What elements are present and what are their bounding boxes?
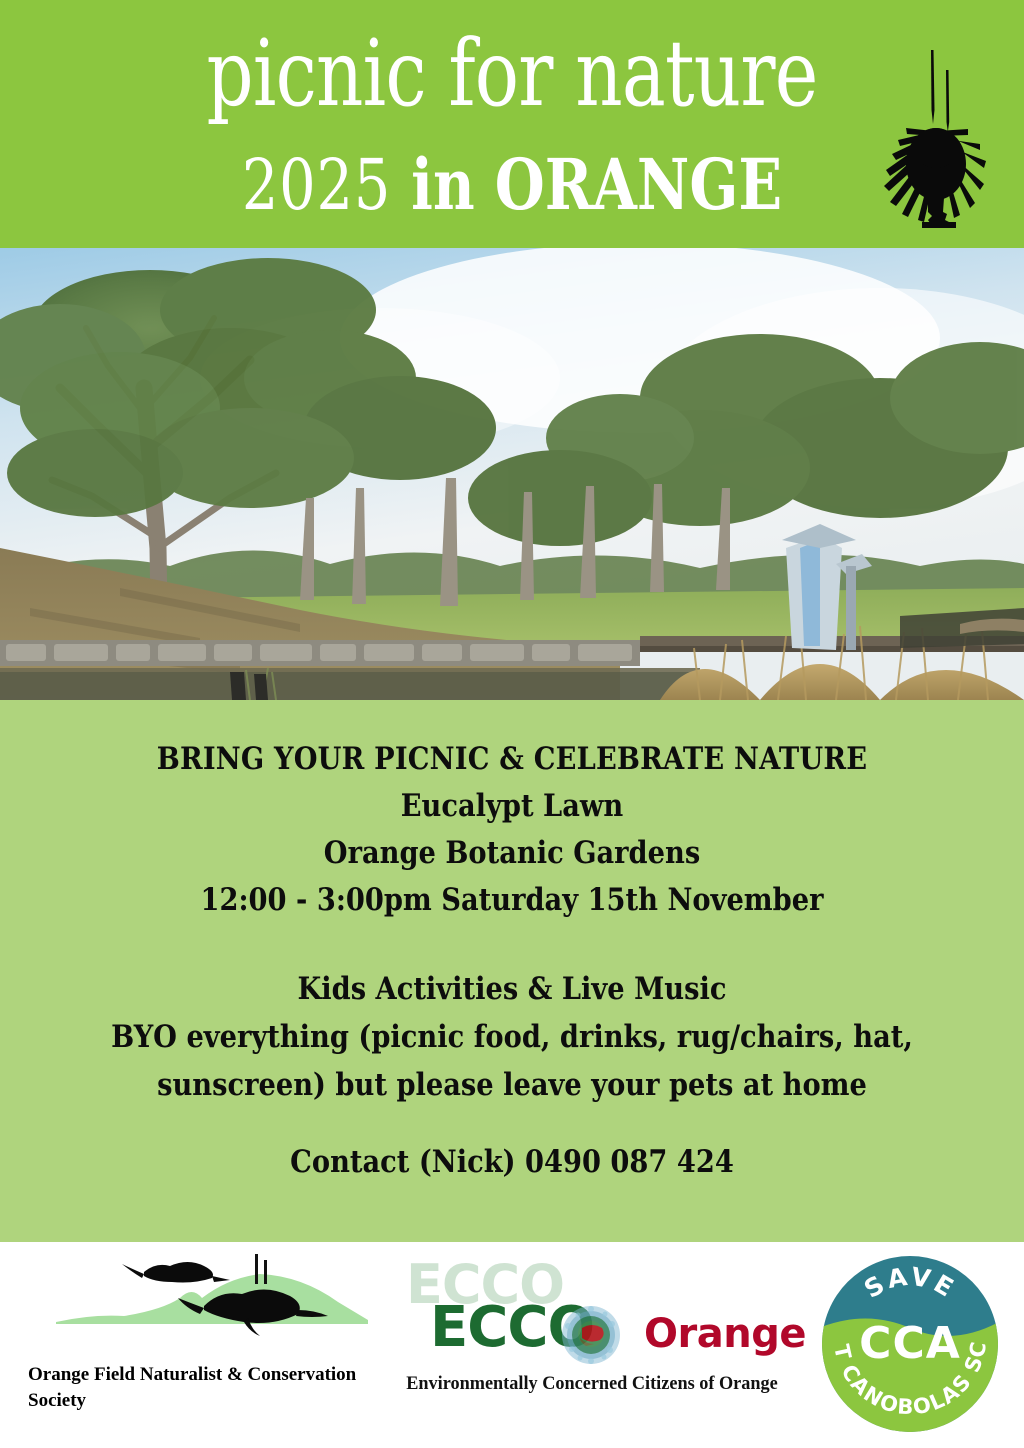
poster-body: BRING YOUR PICNIC & CELEBRATE NATURE Euc…	[0, 700, 1024, 1242]
hero-photo	[0, 248, 1024, 700]
page-title: picnic for nature	[102, 28, 921, 120]
ecco-tagline: Environmentally Concerned Citizens of Or…	[400, 1372, 784, 1396]
logo-ecco: ECCO ECCO	[392, 1256, 792, 1432]
contact-line: Contact (Nick) 0490 087 424	[61, 1140, 962, 1184]
event-contact-block: Contact (Nick) 0490 087 424	[0, 1140, 1024, 1184]
event-venue: Orange Botanic Gardens	[61, 830, 962, 877]
logo-ofncs-label: Orange Field Naturalist & Conservation S…	[28, 1362, 388, 1414]
page-subtitle: 2025 in ORANGE	[92, 150, 932, 220]
ecco-orange-wordmark: Orange	[644, 1314, 806, 1354]
cca-center-text: CCA	[859, 1318, 961, 1369]
event-activities-block: Kids Activities & Live Music BYO everyth…	[0, 965, 1024, 1109]
subtitle-location: in ORANGE	[391, 143, 782, 226]
logo-ofncs: Orange Field Naturalist & Conservation S…	[12, 1250, 392, 1440]
cca-badge-icon: SAVE CCA MT CANOBOLAS SCA	[818, 1252, 1002, 1436]
byo-line: BYO everything (picnic food, drinks, rug…	[61, 1013, 962, 1109]
poster-header: picnic for nature 2025 in ORANGE	[0, 0, 1024, 248]
event-venue-lawn: Eucalypt Lawn	[61, 783, 962, 830]
hero-photo-illustration	[0, 248, 1024, 700]
activities-line: Kids Activities & Live Music	[61, 965, 962, 1013]
fuzzy-globe-icon	[560, 1304, 622, 1366]
hill-with-birds-icon	[52, 1252, 372, 1352]
subtitle-year: 2025	[242, 144, 391, 226]
logo-cca: SAVE CCA MT CANOBOLAS SCA	[818, 1252, 1002, 1436]
poster-footer: Orange Field Naturalist & Conservation S…	[0, 1242, 1024, 1448]
event-headline: BRING YOUR PICNIC & CELEBRATE NATURE	[61, 736, 962, 783]
event-datetime: 12:00 - 3:00pm Saturday 15th November	[61, 877, 962, 924]
event-details-block: BRING YOUR PICNIC & CELEBRATE NATURE Euc…	[0, 736, 1024, 924]
poster-root: picnic for nature 2025 in ORANGE	[0, 0, 1024, 1448]
grass-tussock-silhouette-icon	[876, 36, 996, 236]
